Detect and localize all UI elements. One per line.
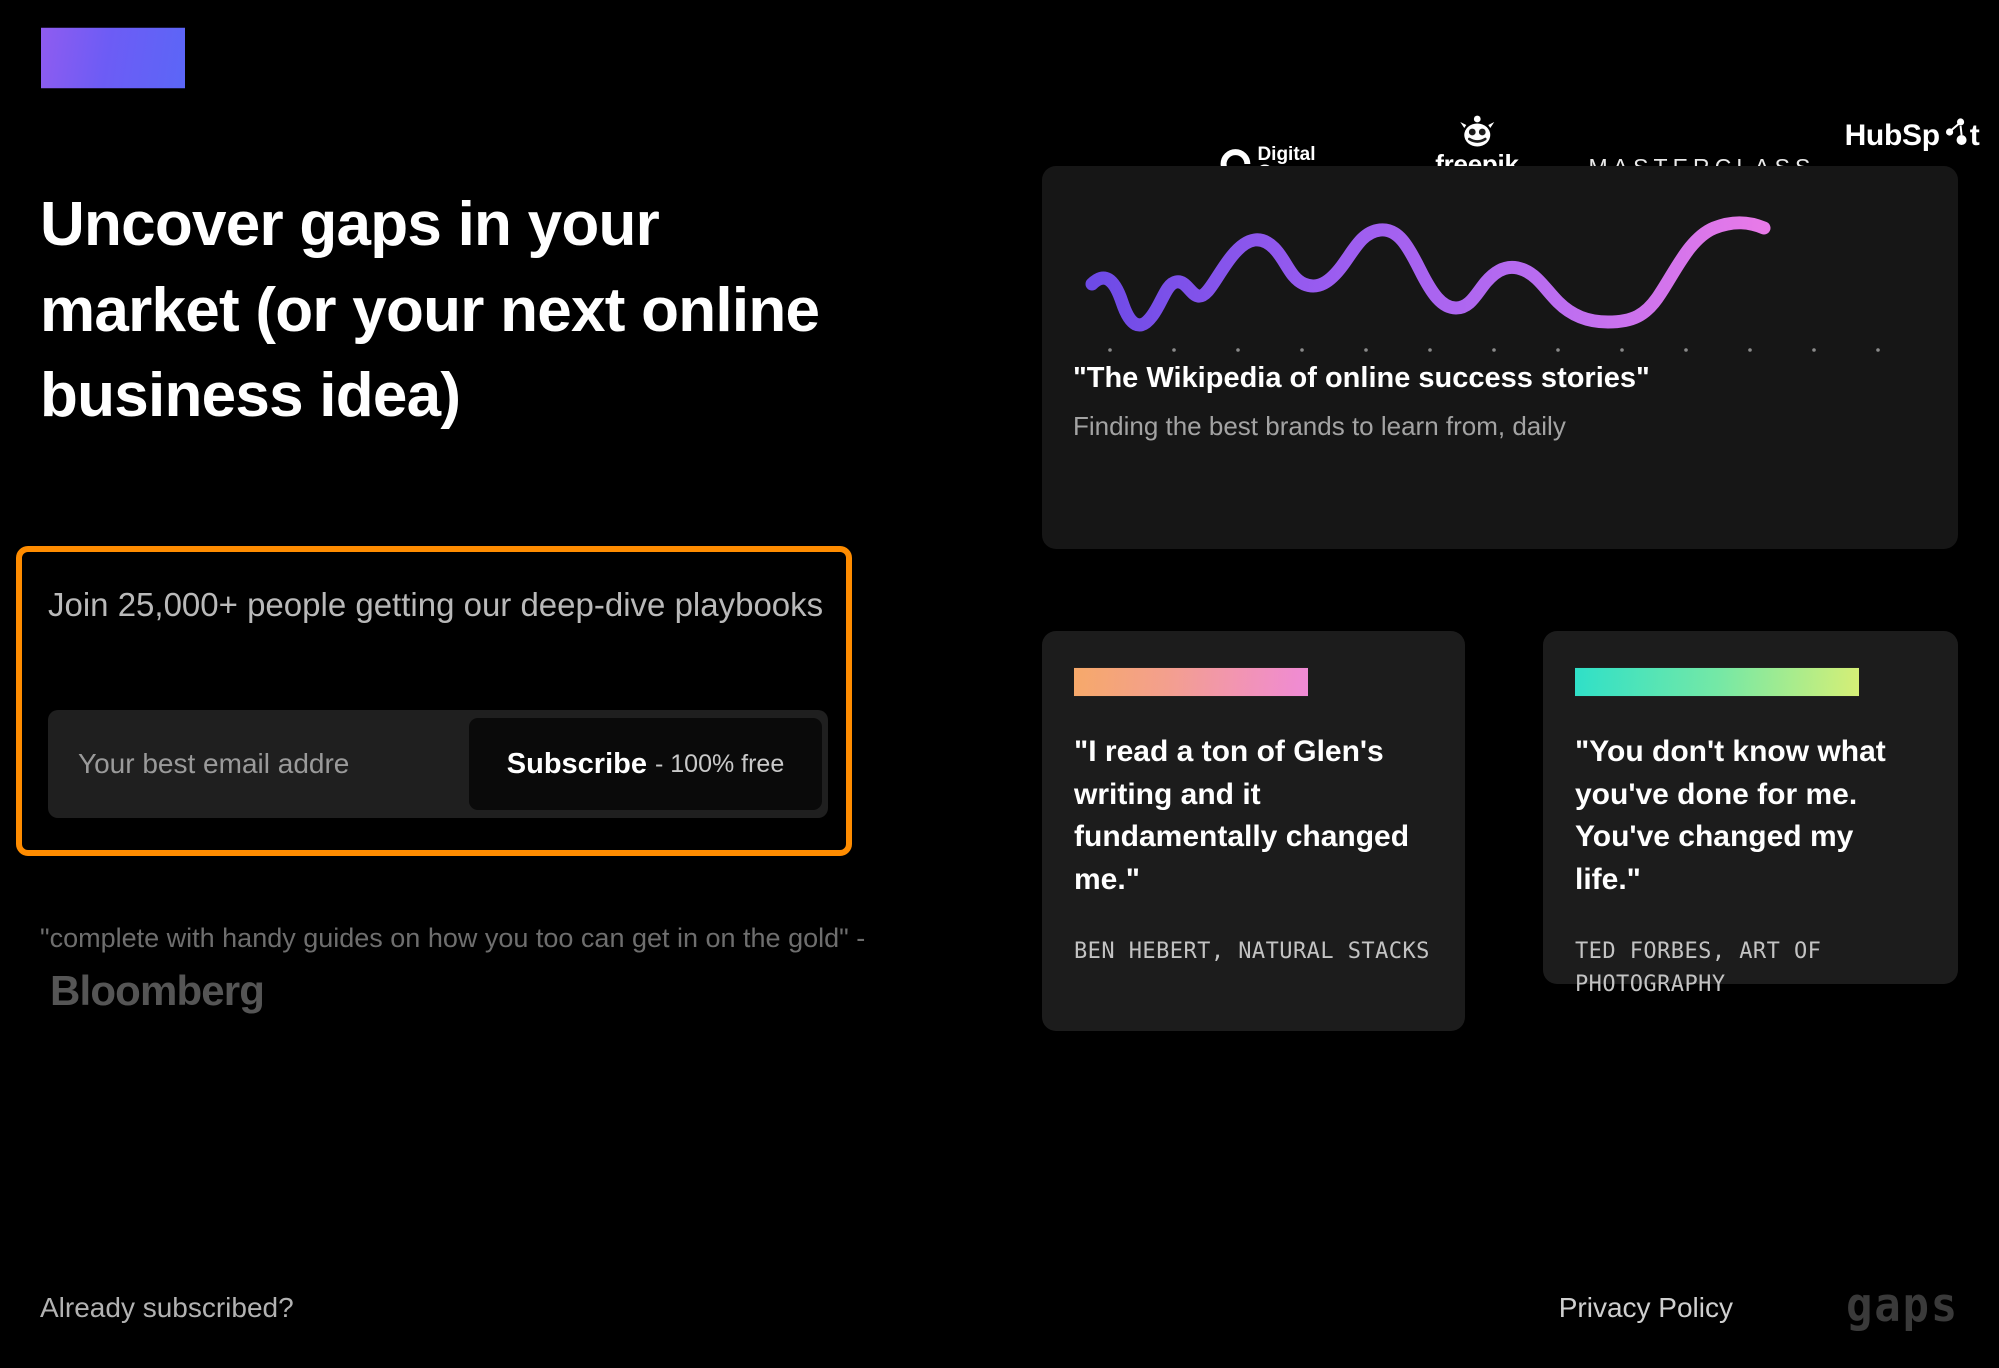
signup-form: Subscribe - 100% free (48, 710, 828, 818)
testimonial-quote: "You don't know what you've done for me.… (1575, 731, 1926, 901)
hubspot-logo: HubSp t (1845, 118, 1980, 154)
chart-subtitle: Finding the best brands to learn from, d… (1073, 410, 1927, 444)
freepik-mascot-icon (1455, 114, 1499, 148)
page-title: Uncover gaps in your market (or your nex… (40, 182, 840, 439)
testimonial-attribution: TED FORBES, ART OF PHOTOGRAPHY (1575, 935, 1926, 1001)
footer: Already subscribed? Privacy Policy gaps (0, 1248, 1999, 1368)
chart-plot (1042, 166, 1958, 381)
press-quote: "complete with handy guides on how you t… (40, 918, 880, 1023)
chart-svg (1042, 166, 1958, 381)
chart-caption: "The Wikipedia of online success stories… (1073, 360, 1927, 443)
chart-line (1092, 223, 1764, 325)
right-column: DigitalOcean freepik MASTERCLASS HubSp (1042, 0, 1958, 1368)
testimonial-quote: "I read a ton of Glen's writing and it f… (1074, 731, 1433, 901)
testimonial-card: 600K+ SUBSCRIBERS "You don't know what y… (1543, 631, 1958, 984)
testimonial-eyebrow: 600K+ SUBSCRIBERS (1575, 668, 1859, 696)
signup-subtitle: Join 25,000+ people getting our deep-div… (48, 582, 828, 629)
testimonial-attribution: BEN HEBERT, NATURAL STACKS (1074, 935, 1433, 968)
chart-tick-dots (1108, 348, 1880, 352)
hubspot-logo-text-tail: t (1970, 119, 1980, 153)
footer-logo[interactable]: gaps (1846, 1282, 1959, 1330)
brand-logo[interactable]: gaps (41, 28, 185, 88)
testimonial-card: 7-FIGURES/YEAR "I read a ton of Glen's w… (1042, 631, 1465, 1031)
testimonial-eyebrow: 7-FIGURES/YEAR (1074, 668, 1308, 696)
subscribe-button-label: Subscribe (507, 748, 647, 781)
press-source-bloomberg: Bloomberg (50, 967, 264, 1014)
hubspot-logo-text: HubSp (1845, 119, 1940, 153)
email-field[interactable] (48, 710, 469, 818)
signup-box: Join 25,000+ people getting our deep-div… (16, 546, 852, 856)
hubspot-sprocket-icon (1942, 118, 1968, 148)
chart-card: "The Wikipedia of online success stories… (1042, 166, 1958, 549)
chart-quote: "The Wikipedia of online success stories… (1073, 360, 1927, 398)
subscribe-button[interactable]: Subscribe - 100% free (469, 718, 822, 810)
subscribe-button-note: - 100% free (655, 750, 784, 779)
press-quote-text: "complete with handy guides on how you t… (40, 923, 865, 953)
privacy-policy-link[interactable]: Privacy Policy (1559, 1292, 1733, 1324)
left-column: gaps Uncover gaps in your market (or you… (0, 0, 880, 1368)
already-subscribed-link[interactable]: Already subscribed? (40, 1292, 294, 1324)
